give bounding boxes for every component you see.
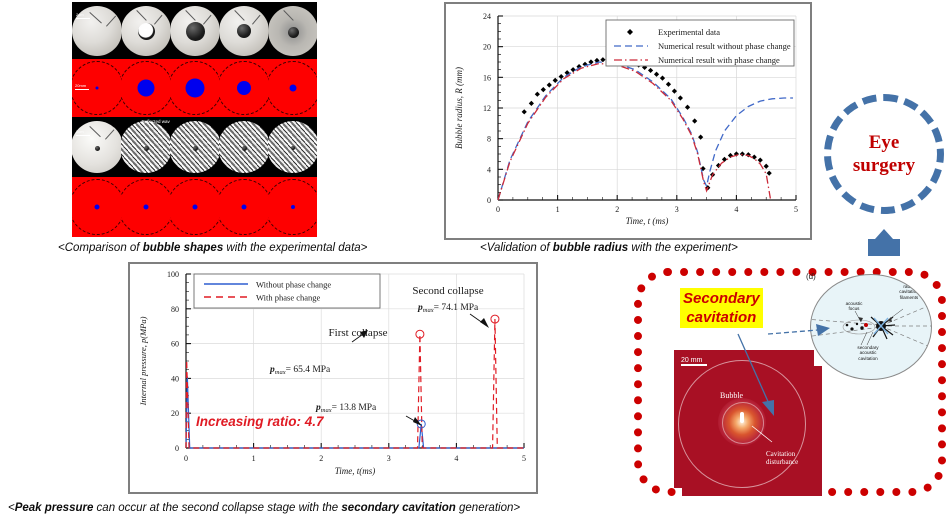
- bubble-shapes-panel: 2cm: [72, 2, 317, 240]
- svg-text:4: 4: [734, 205, 738, 214]
- frame: [170, 177, 219, 237]
- svg-text:16: 16: [483, 73, 491, 82]
- radial-filaments-label: radial cavitation filaments: [891, 284, 927, 300]
- frame: [268, 177, 317, 237]
- eye-surgery-callout: Eye surgery: [824, 94, 944, 214]
- secondary-cavitation-panel: (d): [634, 268, 946, 496]
- svg-text:8: 8: [487, 135, 491, 144]
- shape-row-experiment-2: 2cm Reflected waves: [72, 117, 317, 177]
- frame: 20mm: [72, 59, 121, 117]
- secondary-cavitation-label: Secondary cavitation: [680, 288, 763, 328]
- bubble-radius-svg: 04812162024012345Time, t (ms)Bubble radi…: [446, 4, 810, 238]
- svg-text:20: 20: [171, 409, 179, 418]
- shape-row-numerical-2: [72, 177, 317, 237]
- frame: [219, 59, 268, 117]
- reflected-waves-label: Reflected waves: [141, 119, 170, 124]
- svg-text:24: 24: [483, 12, 491, 21]
- svg-text:Numerical result without phase: Numerical result without phase change: [658, 41, 791, 51]
- arrow-to-bubble-icon: [730, 330, 782, 422]
- svg-text:0: 0: [184, 454, 188, 463]
- svg-text:60: 60: [171, 340, 179, 349]
- svg-text:Experimental data: Experimental data: [658, 27, 720, 37]
- subfigure-letter: (d): [806, 272, 816, 281]
- frame: [219, 2, 268, 59]
- svg-text:3: 3: [387, 454, 391, 463]
- svg-text:4: 4: [454, 454, 458, 463]
- frame: [219, 117, 268, 177]
- shape-row-numerical-1: 20mm: [72, 59, 317, 117]
- frame: [72, 177, 121, 237]
- caption-peak-pressure: <Peak pressure can occur at the second c…: [8, 502, 520, 514]
- svg-text:1: 1: [252, 454, 256, 463]
- frame: [268, 59, 317, 117]
- svg-text:80: 80: [171, 305, 179, 314]
- frame: [268, 2, 317, 59]
- scale-bar-2cm-2: 2cm: [76, 129, 90, 136]
- svg-text:pmax= 65.4 MPa: pmax= 65.4 MPa: [269, 365, 331, 376]
- acoustic-focus-label: acoustic focus: [837, 301, 871, 312]
- frame: 2cm: [72, 117, 121, 177]
- cavitation-disturbance-label: Cavitation disturbance: [766, 450, 798, 466]
- svg-text:100: 100: [167, 270, 179, 279]
- svg-text:0: 0: [487, 196, 491, 205]
- up-arrow-icon: [862, 228, 906, 260]
- svg-text:2: 2: [319, 454, 323, 463]
- eye-surgery-line1: Eye: [869, 131, 900, 154]
- scale-bar-20mm: 20mm: [75, 83, 89, 90]
- svg-text:pmax= 74.1 MPa: pmax= 74.1 MPa: [417, 303, 479, 314]
- svg-text:With phase change: With phase change: [256, 293, 321, 303]
- svg-text:4: 4: [487, 165, 491, 174]
- frame: [121, 2, 170, 59]
- frame: [121, 59, 170, 117]
- svg-text:1: 1: [556, 205, 560, 214]
- svg-text:0: 0: [496, 205, 500, 214]
- svg-text:Internal pressure, p(MPa): Internal pressure, p(MPa): [138, 316, 148, 406]
- svg-text:Time, t(ms): Time, t(ms): [335, 466, 376, 476]
- secondary-acoustic-cavitation-label: secondary acoustic cavitation: [847, 345, 889, 361]
- svg-text:pmax= 13.8 MPa: pmax= 13.8 MPa: [315, 403, 377, 414]
- shape-row-experiment-1: 2cm: [72, 2, 317, 59]
- svg-text:2: 2: [615, 205, 619, 214]
- svg-text:40: 40: [171, 374, 179, 383]
- svg-text:20: 20: [483, 43, 491, 52]
- frame: [121, 177, 170, 237]
- svg-text:Increasing ratio: 4.7: Increasing ratio: 4.7: [196, 414, 325, 429]
- caption-bubble-shapes: <Comparison of bubble shapes with the ex…: [58, 242, 367, 254]
- svg-text:Second collapse: Second collapse: [412, 285, 483, 297]
- bubble-radius-chart: 04812162024012345Time, t (ms)Bubble radi…: [444, 2, 812, 240]
- caption-bubble-radius: <Validation of bubble radius with the ex…: [480, 242, 738, 254]
- eye-surgery-line2: surgery: [853, 154, 915, 177]
- svg-text:Numerical result with phase ch: Numerical result with phase change: [658, 55, 780, 65]
- svg-text:3: 3: [675, 205, 679, 214]
- photo-scale-bar: 20 mm: [681, 358, 707, 366]
- svg-text:Without phase change: Without phase change: [256, 280, 331, 290]
- svg-text:5: 5: [794, 205, 798, 214]
- frame: [170, 2, 219, 59]
- frame: [219, 177, 268, 237]
- svg-text:12: 12: [483, 104, 491, 113]
- svg-text:0: 0: [175, 444, 179, 453]
- frame: Reflected waves: [121, 117, 170, 177]
- scale-bar-2cm: 2cm: [76, 12, 90, 19]
- frame: [170, 117, 219, 177]
- internal-pressure-svg: 020406080100012345Time, t(ms)Internal pr…: [130, 264, 536, 492]
- frame: [268, 117, 317, 177]
- frame: [170, 59, 219, 117]
- internal-pressure-chart: 020406080100012345Time, t(ms)Internal pr…: [128, 262, 538, 494]
- svg-text:Time, t (ms): Time, t (ms): [626, 216, 669, 226]
- svg-text:5: 5: [522, 454, 526, 463]
- frame: 2cm: [72, 2, 121, 59]
- svg-text:Bubble radius, R (mm): Bubble radius, R (mm): [454, 67, 464, 149]
